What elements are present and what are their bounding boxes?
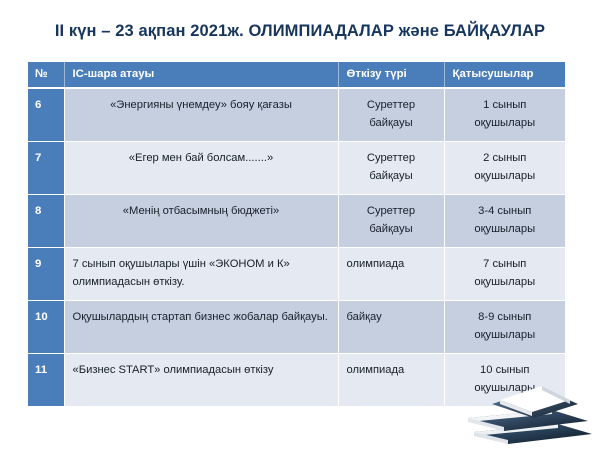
- row-participants: 3-4 сынып оқушылары: [444, 194, 565, 247]
- table-header-row: № ІС-шара атауы Өткізу түрі Қатысушылар: [28, 62, 565, 88]
- row-event-type: олимпиада: [338, 353, 444, 406]
- row-number: 10: [28, 300, 64, 353]
- table-row: 7 «Егер мен бай болсам.......» Суреттер …: [28, 141, 565, 194]
- row-participants: 7 сынып оқушылары: [444, 247, 565, 300]
- row-event-name: «Энергияны үнемдеу» бояу қағазы: [64, 88, 338, 141]
- row-number: 9: [28, 247, 64, 300]
- row-number: 11: [28, 353, 64, 406]
- table-header: № ІС-шара атауы Өткізу түрі Қатысушылар: [28, 62, 565, 88]
- row-event-type: олимпиада: [338, 247, 444, 300]
- column-header-participants: Қатысушылар: [444, 62, 565, 88]
- book-bottom: [474, 424, 592, 444]
- row-event-name: «Бизнес START» олимпиадасын өткізу: [64, 353, 338, 406]
- schedule-table: № ІС-шара атауы Өткізу түрі Қатысушылар …: [28, 62, 565, 407]
- column-header-event-type: Өткізу түрі: [338, 62, 444, 88]
- row-event-type: Суреттер байқауы: [338, 194, 444, 247]
- row-number: 7: [28, 141, 64, 194]
- row-event-name: 7 сынып оқушылары үшін «ЭКОНОМ и К» олим…: [64, 247, 338, 300]
- row-number: 8: [28, 194, 64, 247]
- row-event-type: Суреттер байқауы: [338, 88, 444, 141]
- book-middle: [468, 410, 588, 431]
- table-row: 11 «Бизнес START» олимпиадасын өткізу ол…: [28, 353, 565, 406]
- table-row: 6 «Энергияны үнемдеу» бояу қағазы Суретт…: [28, 88, 565, 141]
- table-body: 6 «Энергияны үнемдеу» бояу қағазы Суретт…: [28, 88, 565, 406]
- table-row: 9 7 сынып оқушылары үшін «ЭКОНОМ и К» ол…: [28, 247, 565, 300]
- table-row: 8 «Менің отбасымның бюджеті» Суреттер ба…: [28, 194, 565, 247]
- row-event-type: Суреттер байқауы: [338, 141, 444, 194]
- row-number: 6: [28, 88, 64, 141]
- row-event-type: байқау: [338, 300, 444, 353]
- row-event-name: Оқушылардың стартап бизнес жобалар байқа…: [64, 300, 338, 353]
- row-event-name: «Егер мен бай болсам.......»: [64, 141, 338, 194]
- column-header-event-name: ІС-шара атауы: [64, 62, 338, 88]
- column-header-number: №: [28, 62, 64, 88]
- table-row: 10 Оқушылардың стартап бизнес жобалар ба…: [28, 300, 565, 353]
- row-participants: 2 сынып оқушылары: [444, 141, 565, 194]
- page-title: II күн – 23 ақпан 2021ж. ОЛИМПИАДАЛАР жә…: [0, 22, 600, 41]
- slide-canvas: II күн – 23 ақпан 2021ж. ОЛИМПИАДАЛАР жә…: [0, 0, 600, 450]
- row-participants: 10 сынып оқушылары: [444, 353, 565, 406]
- row-participants: 8-9 сынып оқушылары: [444, 300, 565, 353]
- row-event-name: «Менің отбасымның бюджеті»: [64, 194, 338, 247]
- row-participants: 1 сынып оқушылары: [444, 88, 565, 141]
